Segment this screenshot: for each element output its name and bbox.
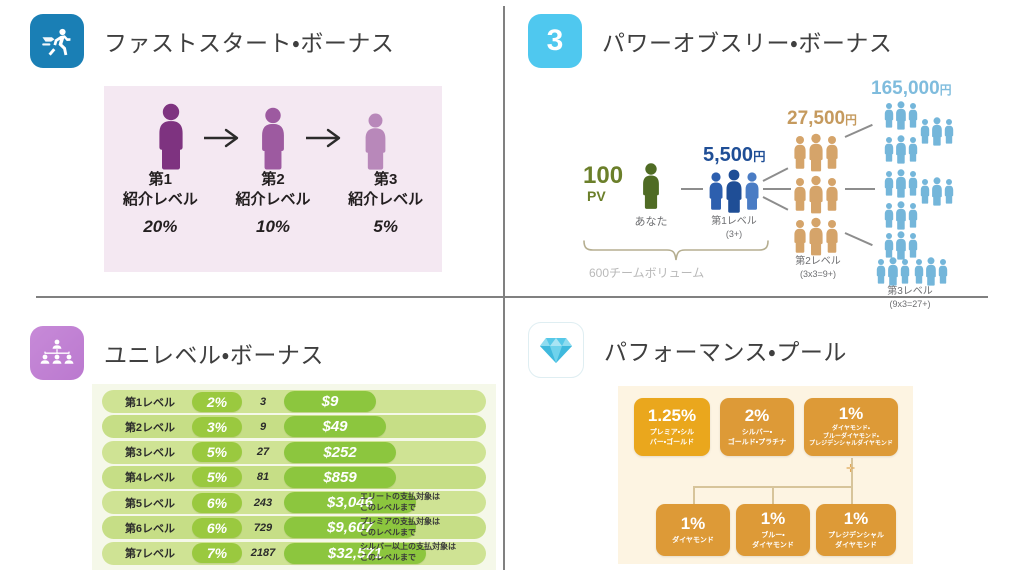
table-row[interactable]: 第6レベル 6% 729 $9,607 プレミアの支払対象は このレベルまで	[102, 516, 486, 539]
table-row[interactable]: 第2レベル 3% 9 $49	[102, 415, 486, 438]
fast-start-level-2-percent: 10%	[217, 217, 330, 237]
unilevel-row-2-count: 9	[242, 421, 284, 433]
fast-start-level-1-percent: 20%	[104, 217, 217, 237]
level1-sublabel: (3+)	[702, 229, 766, 240]
quadrant-unilevel: ユニレベル・ボーナス 第1レベル 2% 3 $9 第2レベル 3% 9 $49 …	[0, 298, 503, 576]
level3-group-4	[883, 168, 919, 198]
unilevel-row-6-level: 第6レベル	[102, 520, 192, 536]
unilevel-row-5-note-line2: このレベルまで	[360, 503, 440, 514]
unilevel-panel: 第1レベル 2% 3 $9 第2レベル 3% 9 $49 第3レベル 5% 27…	[92, 384, 496, 570]
level1-amount: 5,500円	[703, 144, 765, 167]
unilevel-row-5-level: 第5レベル	[102, 495, 192, 511]
perf-plus-icon: ✛	[846, 464, 855, 475]
perf-connector-down-1	[693, 486, 695, 504]
unilevel-title: ユニレベル・ボーナス	[104, 336, 324, 370]
start-pv-value: 100	[583, 162, 623, 190]
perf-pool-box-bottom-2[interactable]: 1% ブルー・ ダイヤモンド	[736, 504, 810, 556]
start-figure	[639, 162, 663, 212]
start-pv-unit: PV	[587, 188, 606, 204]
quadrant-power-of-three: 3 パワーオブスリー・ボーナス 100 PV	[505, 0, 1024, 296]
unilevel-row-7-level: 第7レベル	[102, 545, 192, 561]
level1-label: 第1レベル (3+)	[702, 216, 766, 240]
table-row[interactable]: 第4レベル 5% 81 $859	[102, 466, 486, 489]
perf-pool-box-top-1[interactable]: 1.25% プレミア・シル バー・ゴールド	[634, 398, 710, 456]
connector-level1-to-level2-b	[763, 188, 791, 190]
fast-start-level-1-line2: 紹介レベル	[104, 190, 217, 210]
connector-level1-to-level2-a	[763, 167, 789, 181]
fast-start-label-row: 第1 紹介レベル 20% 第2 紹介レベル 10% 第3 紹介レベル 5%	[104, 170, 442, 237]
level3-group-1	[883, 100, 919, 130]
level2-label: 第2レベル (3x3=9+)	[785, 256, 851, 280]
connector-start-to-level1	[681, 188, 703, 190]
perf-pool-box-top-1-percent: 1.25%	[648, 407, 696, 424]
slide-board: ファストスタート・ボーナス	[0, 0, 1024, 576]
fast-start-level-2-line1: 第2	[217, 170, 330, 190]
fast-start-level-1-line1: 第1	[104, 170, 217, 190]
unilevel-row-6-note: プレミアの支払対象は このレベルまで	[360, 517, 440, 539]
unilevel-row-3-percent: 5%	[192, 442, 242, 462]
unilevel-row-7-note-line1: シルバー以上の支払対象は	[360, 542, 456, 553]
unilevel-row-7-note: シルバー以上の支払対象は このレベルまで	[360, 542, 456, 564]
perf-pool-box-bottom-3-name: プレジデンシャル ダイヤモンド	[825, 531, 887, 549]
quadrant-fast-start: ファストスタート・ボーナス	[0, 0, 503, 296]
perf-pool-box-top-1-name: プレミア・シル バー・ゴールド	[647, 428, 697, 446]
connector-level1-to-level2-c	[763, 196, 789, 210]
perf-pool-box-bottom-1-percent: 1%	[681, 515, 706, 532]
perf-pool-box-bottom-2-name: ブルー・ ダイヤモンド	[749, 531, 797, 549]
unilevel-row-1-percent: 2%	[192, 392, 242, 412]
level2-sublabel: (3x3=9+)	[785, 269, 851, 280]
table-row[interactable]: 第7レベル 7% 2187 $32,571 シルバー以上の支払対象は このレベル…	[102, 542, 486, 565]
level2-group-1	[791, 132, 843, 172]
unilevel-row-1-level: 第1レベル	[102, 394, 192, 410]
unilevel-row-4-count: 81	[242, 471, 284, 483]
diamond-gem-icon	[528, 322, 584, 378]
perf-connector-down-2	[772, 486, 774, 504]
unilevel-row-4-percent: 5%	[192, 467, 242, 487]
unilevel-row-7-percent: 7%	[192, 543, 242, 563]
perf-pool-box-bottom-3-percent: 1%	[844, 510, 869, 527]
perf-pool-box-top-2-name: シルバー・ ゴールド・プラチナ	[725, 428, 789, 446]
fast-start-figure-3	[347, 112, 403, 170]
performance-pool-diagram: ✛ 1.25% プレミア・シル バー・ゴールド 2% シルバー・ ゴールド・プラ…	[618, 386, 913, 564]
team-volume-brace	[581, 240, 771, 267]
level2-group-2	[791, 174, 843, 214]
table-row[interactable]: 第3レベル 5% 27 $252	[102, 441, 486, 464]
level1-group	[705, 168, 763, 214]
level3-amount: 165,000円	[871, 78, 951, 100]
performance-pool-title: パフォーマンス・プール	[604, 333, 847, 367]
level2-amount: 27,500円	[787, 108, 857, 130]
perf-pool-box-top-3-percent: 1%	[839, 405, 864, 422]
perf-pool-box-top-2-percent: 2%	[745, 407, 770, 424]
unilevel-row-3-count: 27	[242, 446, 284, 458]
power-of-three-header: 3 パワーオブスリー・ボーナス	[528, 14, 892, 68]
unilevel-row-6-note-line1: プレミアの支払対象は	[360, 517, 440, 528]
level3-group-5	[919, 176, 955, 206]
unilevel-row-5-count: 243	[242, 497, 284, 509]
fast-start-panel: 第1 紹介レベル 20% 第2 紹介レベル 10% 第3 紹介レベル 5%	[104, 86, 442, 272]
fast-start-arrow-2	[301, 128, 347, 170]
connector-level2-to-level3-c	[845, 232, 873, 246]
org-chart-icon	[30, 326, 84, 380]
connector-level2-to-level3-b	[845, 188, 875, 190]
fast-start-level-2-line2: 紹介レベル	[217, 190, 330, 210]
unilevel-row-6-count: 729	[242, 522, 284, 534]
fast-start-level-3-line1: 第3	[329, 170, 442, 190]
power-of-three-title: パワーオブスリー・ボーナス	[602, 24, 892, 58]
unilevel-row-6-percent: 6%	[192, 518, 242, 538]
fast-start-figure-1	[143, 102, 199, 170]
unilevel-row-3-level: 第3レベル	[102, 444, 192, 460]
team-volume-label: 600チームボリューム	[589, 264, 704, 281]
level2-group-3	[791, 216, 843, 256]
fast-start-figure-row	[104, 98, 442, 170]
quadrant-performance-pool: パフォーマンス・プール ✛ 1.25% プレミア・シル バー・ゴールド	[505, 298, 1024, 576]
fast-start-level-2: 第2 紹介レベル 10%	[217, 170, 330, 237]
perf-pool-box-top-2[interactable]: 2% シルバー・ ゴールド・プラチナ	[720, 398, 794, 456]
unilevel-row-5-percent: 6%	[192, 493, 242, 513]
fast-start-title: ファストスタート・ボーナス	[104, 24, 394, 58]
unilevel-row-6-note-line2: このレベルまで	[360, 528, 440, 539]
power-of-three-diagram: 100 PV あなた 5,500円	[505, 64, 1024, 294]
perf-pool-box-bottom-1[interactable]: 1% ダイヤモンド	[656, 504, 730, 556]
unilevel-row-2-level: 第2レベル	[102, 419, 192, 435]
perf-pool-box-bottom-3[interactable]: 1% プレジデンシャル ダイヤモンド	[816, 504, 896, 556]
level3-group-6	[883, 200, 919, 230]
fast-start-level-3: 第3 紹介レベル 5%	[329, 170, 442, 237]
unilevel-row-2-amount: $49	[284, 416, 386, 437]
unilevel-row-4-amount: $859	[284, 467, 396, 488]
fast-start-header: ファストスタート・ボーナス	[30, 14, 394, 68]
fast-start-arrow-1	[199, 128, 245, 170]
fast-start-level-1: 第1 紹介レベル 20%	[104, 170, 217, 237]
unilevel-row-2-percent: 3%	[192, 417, 242, 437]
fast-start-level-3-line2: 紹介レベル	[329, 190, 442, 210]
running-person-icon	[30, 14, 84, 68]
number-three-badge-text: 3	[547, 24, 564, 58]
level3-group-8	[875, 256, 911, 286]
unilevel-row-7-count: 2187	[242, 547, 284, 559]
number-three-icon: 3	[528, 14, 582, 68]
table-row[interactable]: 第1レベル 2% 3 $9	[102, 390, 486, 413]
fast-start-level-3-percent: 5%	[329, 217, 442, 237]
perf-pool-box-bottom-1-name: ダイヤモンド	[669, 536, 717, 545]
perf-pool-box-top-3[interactable]: 1% ダイヤモンド・ ブルーダイヤモンド・ プレジデンシャルダイヤモンド	[804, 398, 898, 456]
unilevel-row-5-note-line1: エリートの支払対象は	[360, 492, 440, 503]
unilevel-row-7-note-line2: このレベルまで	[360, 553, 456, 564]
unilevel-row-3-amount: $252	[284, 442, 396, 463]
perf-pool-box-bottom-2-percent: 1%	[761, 510, 786, 527]
fast-start-figure-2	[245, 106, 301, 170]
level3-group-9	[913, 256, 949, 286]
unilevel-row-1-count: 3	[242, 396, 284, 408]
performance-pool-header: パフォーマンス・プール	[528, 322, 847, 378]
perf-pool-box-top-3-name: ダイヤモンド・ ブルーダイヤモンド・ プレジデンシャルダイヤモンド	[806, 426, 896, 449]
unilevel-row-5-note: エリートの支払対象は このレベルまで	[360, 492, 440, 514]
start-label: あなた	[619, 216, 683, 230]
unilevel-header: ユニレベル・ボーナス	[30, 326, 324, 380]
unilevel-row-1-amount: $9	[284, 391, 376, 412]
table-row[interactable]: 第5レベル 6% 243 $3,046 エリートの支払対象は このレベルまで	[102, 491, 486, 514]
level3-group-2	[919, 116, 955, 146]
performance-pool-panel: ✛ 1.25% プレミア・シル バー・ゴールド 2% シルバー・ ゴールド・プラ…	[618, 386, 913, 564]
unilevel-row-4-level: 第4レベル	[102, 469, 192, 485]
level3-group-3	[883, 134, 919, 164]
